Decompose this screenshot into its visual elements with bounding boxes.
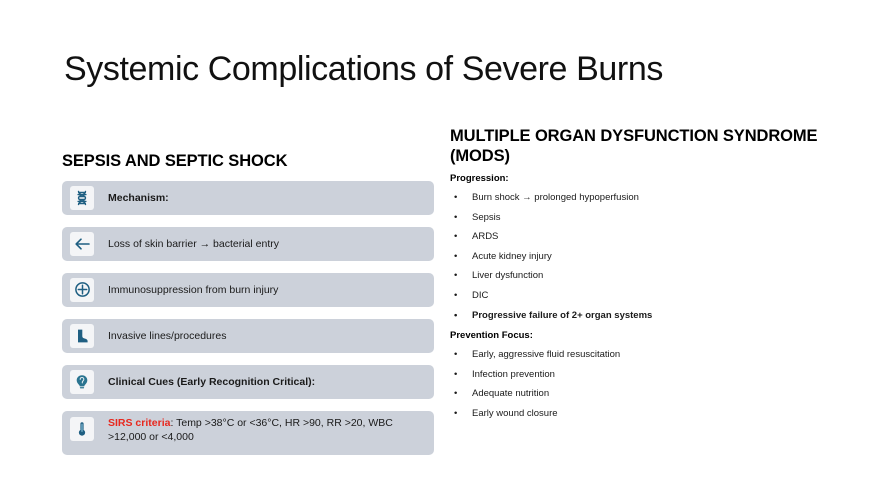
list-item: • DIC bbox=[450, 286, 850, 306]
list-item[interactable]: Invasive lines/procedures bbox=[62, 319, 434, 353]
bullet-icon: • bbox=[454, 365, 457, 385]
list-item-label: Sepsis bbox=[472, 212, 501, 223]
sirs-criteria-label: SIRS criteria bbox=[108, 417, 170, 429]
list-item-label: Progressive failure of 2+ organ systems bbox=[472, 310, 652, 321]
mods-section: MULTIPLE ORGAN DYSFUNCTION SYNDROME (MOD… bbox=[450, 126, 850, 424]
list-item-label: DIC bbox=[472, 290, 488, 301]
list-item-label: Loss of skin barrier → bacterial entry bbox=[108, 237, 289, 251]
thermometer-icon bbox=[70, 417, 94, 441]
list-item-label: Clinical Cues (Early Recognition Critica… bbox=[108, 375, 325, 389]
bullet-icon: • bbox=[454, 188, 457, 208]
bullet-icon: • bbox=[454, 286, 457, 306]
list-item: • Infection prevention bbox=[450, 365, 850, 385]
list-item-label: Early wound closure bbox=[472, 408, 558, 419]
shield-plus-icon bbox=[70, 278, 94, 302]
progression-label: Progression: bbox=[450, 172, 850, 185]
list-item: • Adequate nutrition bbox=[450, 384, 850, 404]
list-item-label: Mechanism: bbox=[108, 191, 179, 205]
bullet-icon: • bbox=[454, 345, 457, 365]
list-item[interactable]: SIRS criteria: Temp >38°C or <36°C, HR >… bbox=[62, 411, 434, 455]
list-item-label: Adequate nutrition bbox=[472, 388, 549, 399]
prevention-list: • Early, aggressive fluid resuscitation … bbox=[450, 345, 850, 423]
list-item[interactable]: Loss of skin barrier → bacterial entry bbox=[62, 227, 434, 261]
bullet-icon: • bbox=[454, 247, 457, 267]
list-item-label: Burn shock → prolonged hypoperfusion bbox=[472, 192, 639, 203]
bullet-icon: • bbox=[454, 227, 457, 247]
sepsis-section-heading: SEPSIS AND SEPTIC SHOCK bbox=[62, 152, 434, 171]
list-item: • Acute kidney injury bbox=[450, 247, 850, 267]
list-item: • ARDS bbox=[450, 227, 850, 247]
list-item: • Early wound closure bbox=[450, 404, 850, 424]
prevention-label: Prevention Focus: bbox=[450, 329, 850, 342]
list-item: • Early, aggressive fluid resuscitation bbox=[450, 345, 850, 365]
boot-icon bbox=[70, 324, 94, 348]
bullet-icon: • bbox=[454, 384, 457, 404]
bullet-icon: • bbox=[454, 404, 457, 424]
list-item[interactable]: Mechanism: bbox=[62, 181, 434, 215]
list-item-label: Immunosuppression from burn injury bbox=[108, 283, 288, 297]
page-title: Systemic Complications of Severe Burns bbox=[64, 50, 663, 89]
bullet-icon: • bbox=[454, 306, 457, 326]
mods-section-heading: MULTIPLE ORGAN DYSFUNCTION SYNDROME (MOD… bbox=[450, 126, 850, 166]
list-item-label: Early, aggressive fluid resuscitation bbox=[472, 349, 620, 360]
list-item: • Progressive failure of 2+ organ system… bbox=[450, 306, 850, 326]
sepsis-section: SEPSIS AND SEPTIC SHOCK Mechanism: L bbox=[62, 152, 434, 467]
list-item-label: Invasive lines/procedures bbox=[108, 329, 236, 343]
progression-list: • Burn shock → prolonged hypoperfusion •… bbox=[450, 188, 850, 325]
dna-helix-icon bbox=[70, 186, 94, 210]
list-item[interactable]: Immunosuppression from burn injury bbox=[62, 273, 434, 307]
bullet-icon: • bbox=[454, 266, 457, 286]
list-item: • Sepsis bbox=[450, 208, 850, 228]
list-item-label: Liver dysfunction bbox=[472, 270, 543, 281]
list-item: • Liver dysfunction bbox=[450, 266, 850, 286]
bullet-icon: • bbox=[454, 208, 457, 228]
list-item: • Burn shock → prolonged hypoperfusion bbox=[450, 188, 850, 208]
lightbulb-icon bbox=[70, 370, 94, 394]
left-arrow-icon bbox=[70, 232, 94, 256]
list-item-label: ARDS bbox=[472, 231, 498, 242]
list-item-label: SIRS criteria: Temp >38°C or <36°C, HR >… bbox=[108, 416, 434, 444]
list-item[interactable]: Clinical Cues (Early Recognition Critica… bbox=[62, 365, 434, 399]
list-item-label: Acute kidney injury bbox=[472, 251, 552, 262]
list-item-label: Infection prevention bbox=[472, 369, 555, 380]
